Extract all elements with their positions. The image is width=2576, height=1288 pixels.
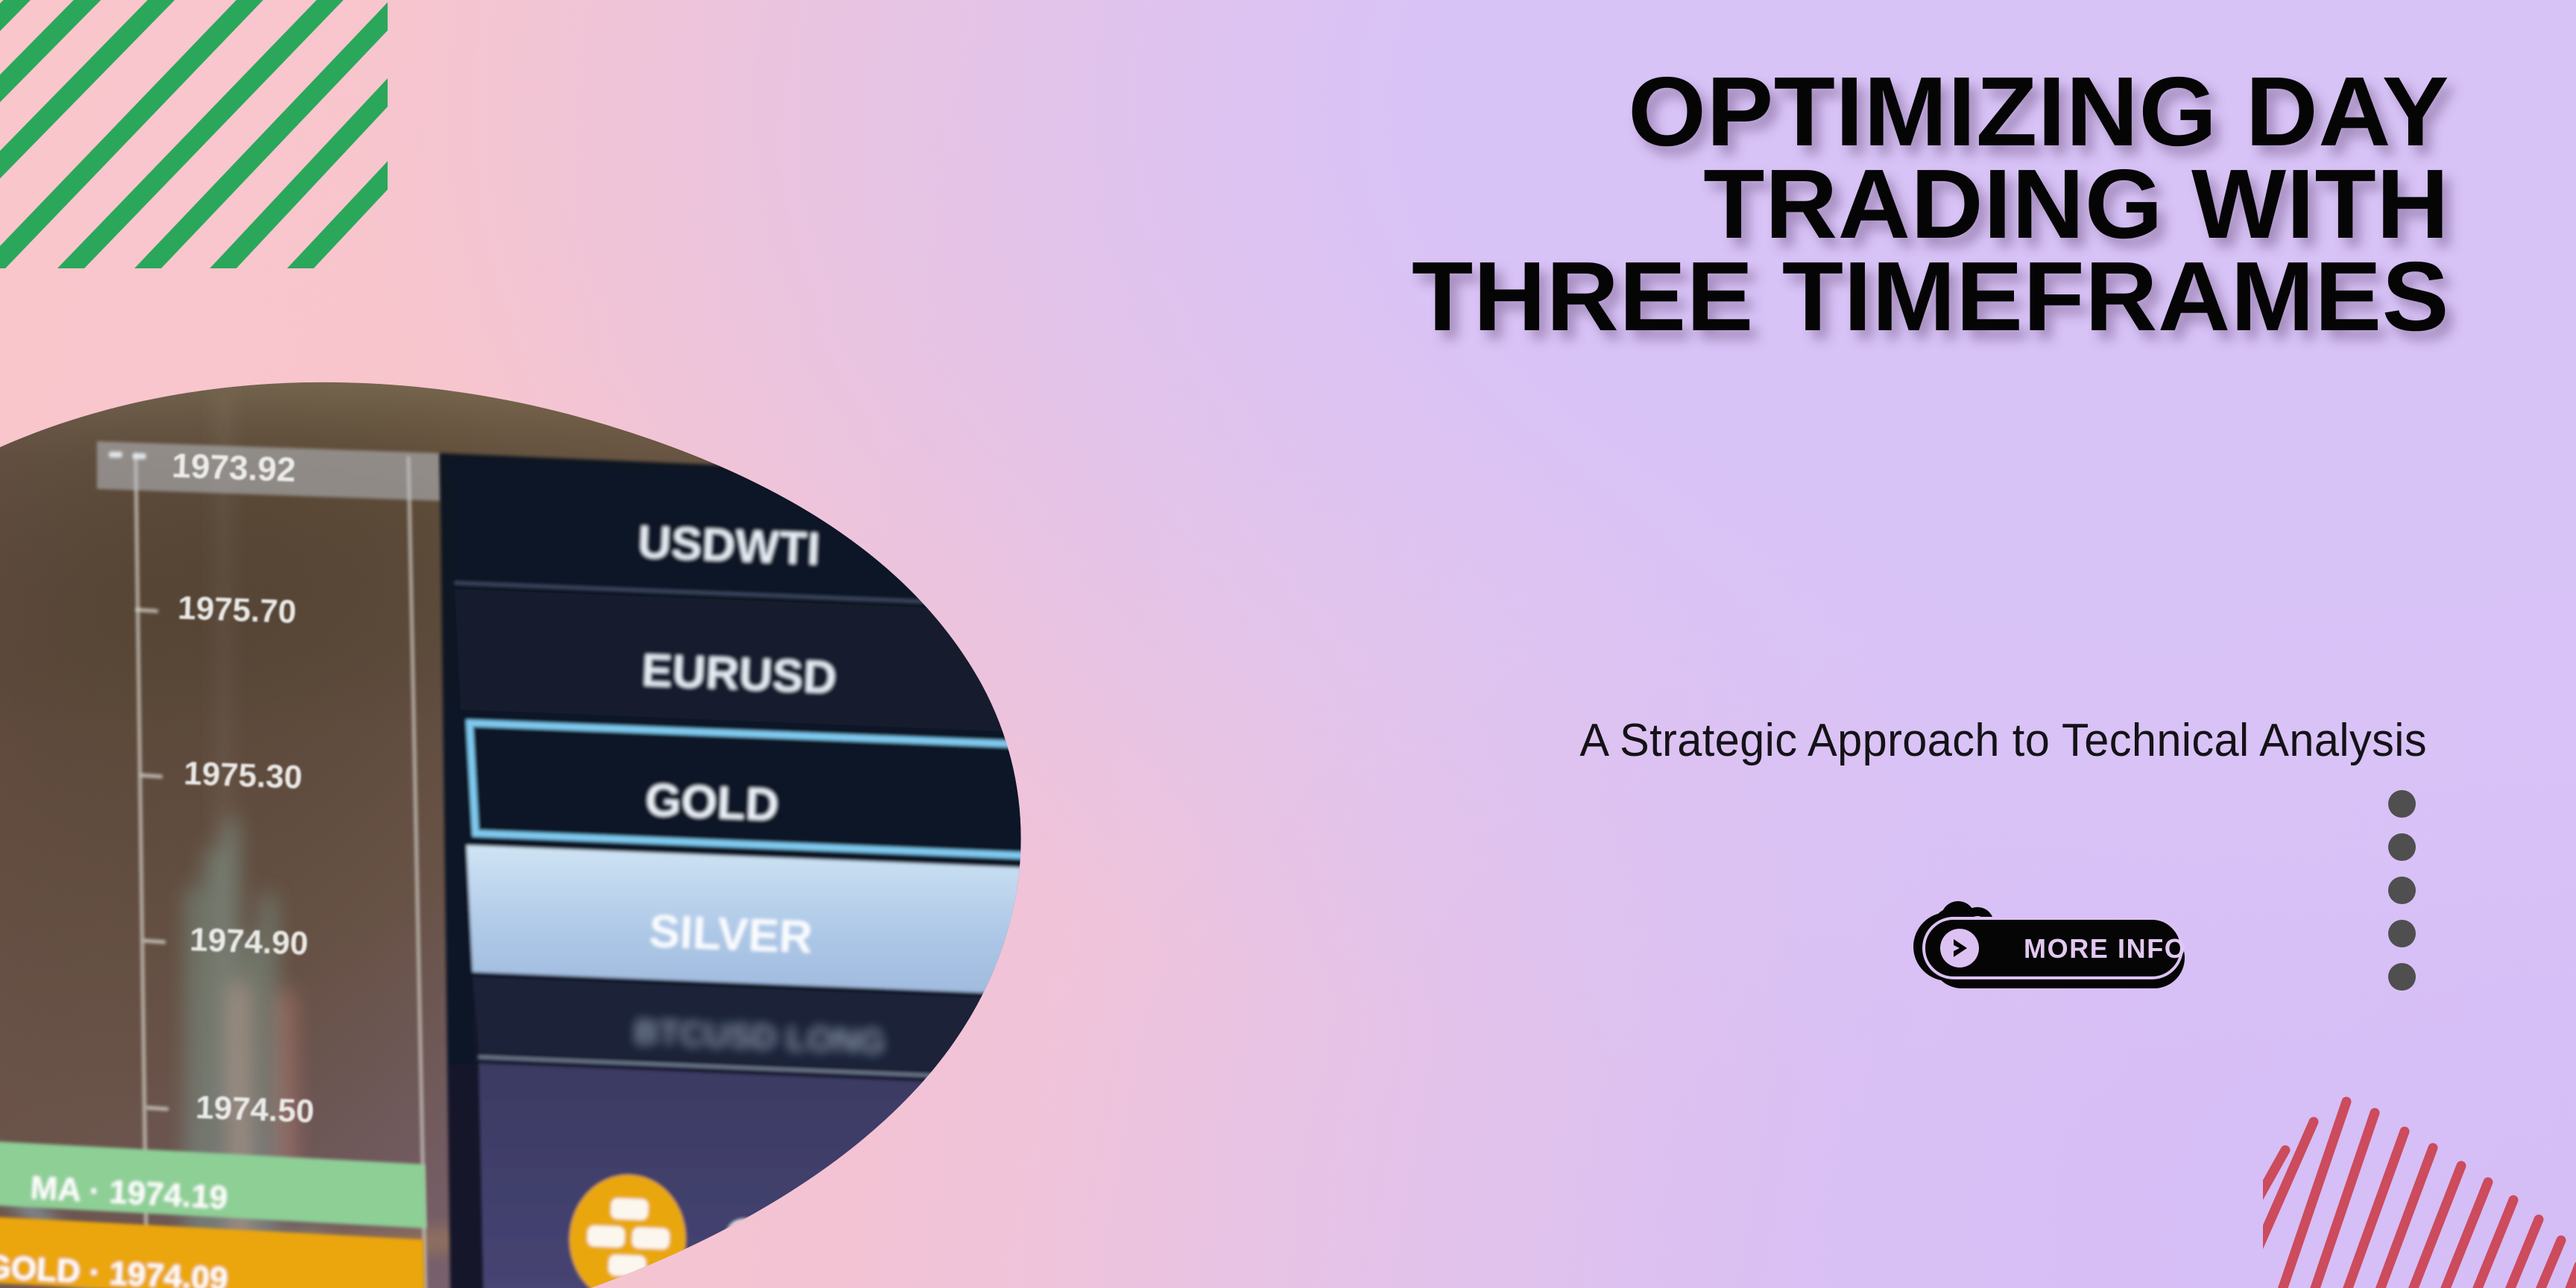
axis-label-1: 1975.70 xyxy=(177,590,297,631)
decorative-dot xyxy=(2388,877,2416,904)
watchlist-symbol-eurusd[interactable]: EURUSD xyxy=(640,645,837,704)
page-title: OPTIMIZING DAY TRADING WITH THREE TIMEFR… xyxy=(1137,66,2449,343)
decorative-dot xyxy=(2388,920,2416,947)
decorative-dot xyxy=(2388,790,2416,818)
detail-title: GOLD xyxy=(722,1207,888,1278)
more-info-button[interactable]: MORE INFO xyxy=(1912,900,2203,996)
dots-decoration xyxy=(2388,790,2416,991)
red-stripe-decoration xyxy=(2263,1020,2576,1288)
trading-screen-photo: 1973.92 1975.70 1975.30 1974.90 1974.50 … xyxy=(0,373,1312,1288)
axis-label-4: 1974.50 xyxy=(195,1089,315,1130)
page-subtitle: A Strategic Approach to Technical Analys… xyxy=(1354,716,2427,766)
decorative-dot xyxy=(2388,833,2416,861)
watchlist-symbol-usdwti[interactable]: USDWTI xyxy=(637,517,821,575)
watchlist-symbol-gold[interactable]: GOLD xyxy=(644,774,780,831)
headline-line-1: OPTIMIZING DAY xyxy=(1111,66,2449,158)
watchlist-price-silver: 2 xyxy=(1229,945,1255,994)
decorative-dot xyxy=(2388,963,2416,991)
green-stripe-decoration xyxy=(0,0,388,268)
axis-label-2: 1975.30 xyxy=(183,755,303,796)
axis-label-3: 1974.90 xyxy=(189,921,309,962)
axis-label-0: 1973.92 xyxy=(171,446,297,489)
headline-line-2: TRADING WITH xyxy=(1111,158,2449,250)
watchlist-price-gold: 19 xyxy=(1214,811,1264,862)
watchlist-symbol-silver[interactable]: SILVER xyxy=(648,906,813,964)
headline-line-3: THREE TIMEFRAMES xyxy=(1111,250,2449,343)
